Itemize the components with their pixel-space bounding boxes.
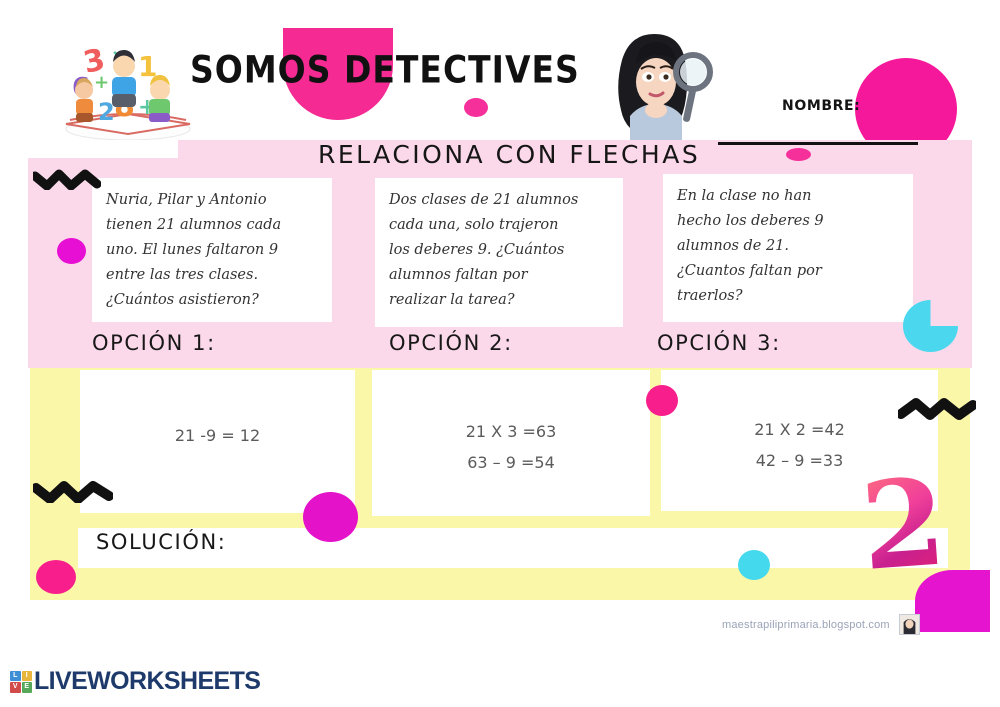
answer-card-2[interactable]: 21 X 3 =63 63 – 9 =54 xyxy=(372,370,650,516)
logo-tile-e: E xyxy=(22,682,33,693)
problem-card-1[interactable]: Nuria, Pilar y Antonio tienen 21 alumnos… xyxy=(92,178,332,322)
liveworksheets-logo: L I V E LIVEWORKSHEETS xyxy=(10,667,260,696)
section-heading: RELACIONA CON FLECHAS xyxy=(318,140,700,169)
problem-text-2: Dos clases de 21 alumnos cada una, solo … xyxy=(389,188,609,313)
math-kids-clipart: 3 ✕ 1 6 2 8 + + xyxy=(48,28,208,143)
cyan-dot-decoration xyxy=(738,550,770,580)
watercolor-number-decoration: 2 xyxy=(858,467,956,588)
problem-text-1: Nuria, Pilar y Antonio tienen 21 alumnos… xyxy=(106,188,318,313)
blog-watermark: maestrapiliprimaria.blogspot.com xyxy=(722,619,890,631)
panel-notch-decoration xyxy=(28,140,178,158)
worksheet-page: 3 ✕ 1 6 2 8 + + xyxy=(0,0,1000,707)
zigzag-decoration-right xyxy=(898,398,976,422)
option-label-3: OPCIÓN 3: xyxy=(657,331,781,355)
answer-card-1[interactable]: 21 -9 = 12 xyxy=(80,370,355,513)
pink-dot-decoration-3 xyxy=(786,148,811,161)
liveworksheets-grid-icon: L I V E xyxy=(10,671,32,693)
zigzag-decoration-left-bottom xyxy=(33,478,113,503)
detective-avatar-icon xyxy=(600,30,718,140)
magenta-dot-decoration-2 xyxy=(303,492,358,542)
problem-card-3[interactable]: En la clase no han hecho los deberes 9 a… xyxy=(663,174,913,322)
magenta-dot-decoration-1 xyxy=(57,238,86,264)
page-title: SOMOS DETECTIVES xyxy=(190,48,580,92)
name-label: NOMBRE: xyxy=(782,98,860,114)
option-label-1: OPCIÓN 1: xyxy=(92,331,216,355)
problem-card-2[interactable]: Dos clases de 21 alumnos cada una, solo … xyxy=(375,178,623,327)
problem-text-3: En la clase no han hecho los deberes 9 a… xyxy=(677,184,899,309)
worksheet-header: 3 ✕ 1 6 2 8 + + xyxy=(0,0,1000,140)
option-label-2: OPCIÓN 2: xyxy=(389,331,513,355)
pink-dot-decoration xyxy=(464,98,488,117)
name-write-line[interactable] xyxy=(718,142,918,145)
answer-text-2: 21 X 3 =63 63 – 9 =54 xyxy=(372,370,650,478)
logo-tile-l: L xyxy=(10,671,21,682)
pink-dot-decoration-1 xyxy=(646,385,678,416)
solution-label: SOLUCIÓN: xyxy=(96,530,226,554)
liveworksheets-wordmark: LIVEWORKSHEETS xyxy=(34,667,260,696)
logo-tile-i: I xyxy=(22,671,33,682)
zigzag-decoration-left-top xyxy=(33,168,101,190)
answer-text-1: 21 -9 = 12 xyxy=(80,370,355,451)
svg-text:+: + xyxy=(94,72,109,93)
watermark-avatar-icon xyxy=(899,614,920,635)
logo-tile-v: V xyxy=(10,682,21,693)
pink-dot-decoration-2 xyxy=(36,560,76,594)
